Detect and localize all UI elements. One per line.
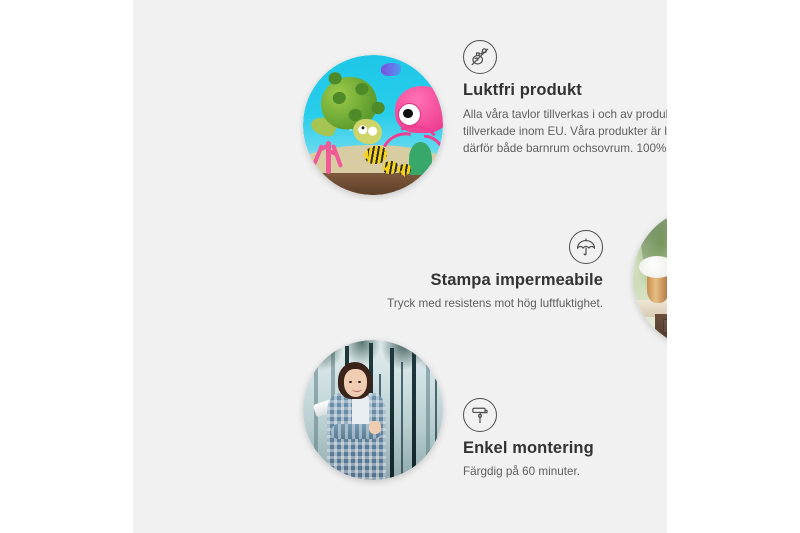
feature-odourless: Luktfri produkt Alla våra tavlor tillver… — [463, 40, 667, 157]
no-odour-spray-bottle-icon — [463, 40, 497, 74]
feature-title: Luktfri produkt — [463, 80, 667, 101]
feature-waterproof: Stampa impermeabile Tryck med resistens … — [323, 230, 603, 312]
paint-roller-icon — [463, 398, 497, 432]
feature-title: Stampa impermeabile — [323, 270, 603, 291]
feature-title: Enkel montering — [463, 438, 667, 459]
feature-easy-mount: Enkel montering Färgdig på 60 minuter. — [463, 398, 667, 480]
feature-body: Tryck med resistens mot hög luftfuktighe… — [323, 295, 603, 312]
photo-underwater — [303, 55, 443, 195]
feature-body: Alla våra tavlor tillverkas i och av pro… — [463, 106, 667, 157]
umbrella-icon — [569, 230, 603, 264]
photo-bathroom — [633, 208, 667, 348]
photo-forest — [303, 340, 443, 480]
infographic-panel: Luktfri produkt Alla våra tavlor tillver… — [133, 0, 667, 533]
feature-body: Färgdig på 60 minuter. — [463, 463, 667, 480]
